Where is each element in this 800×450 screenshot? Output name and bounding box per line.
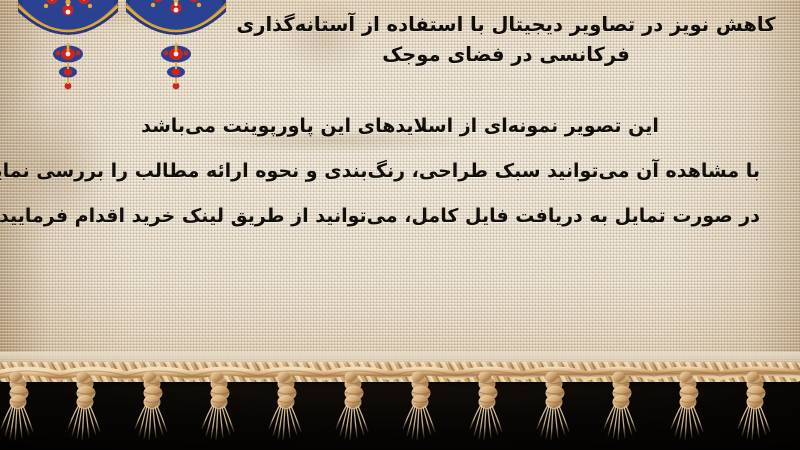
- ornament-group: [0, 0, 240, 96]
- tassel-group: [0, 352, 800, 450]
- slide-body-line-2: با مشاهده آن می‌توانید سبک طراحی، رنگ‌بن…: [40, 149, 760, 194]
- slide-title: کاهش نویز در تصاویر دیجیتال با استفاده ا…: [226, 10, 786, 70]
- persian-illumination-medallion-icon: [16, 0, 120, 92]
- slide-title-line-1: کاهش نویز در تصاویر دیجیتال با استفاده ا…: [226, 10, 786, 40]
- slide-title-line-2: فرکانسی در فضای موجک: [226, 40, 786, 70]
- slide-body: این تصویر نمونه‌ای از اسلایدهای این پاور…: [40, 104, 760, 239]
- slide-body-line-3: در صورت تمایل به دریافت فایل کامل، می‌تو…: [40, 194, 760, 239]
- persian-illumination-medallion-icon: [124, 0, 228, 92]
- carpet-fringe-tassels-icon: [0, 352, 800, 450]
- presentation-slide: کاهش نویز در تصاویر دیجیتال با استفاده ا…: [0, 0, 800, 450]
- slide-body-line-1: این تصویر نمونه‌ای از اسلایدهای این پاور…: [40, 104, 760, 149]
